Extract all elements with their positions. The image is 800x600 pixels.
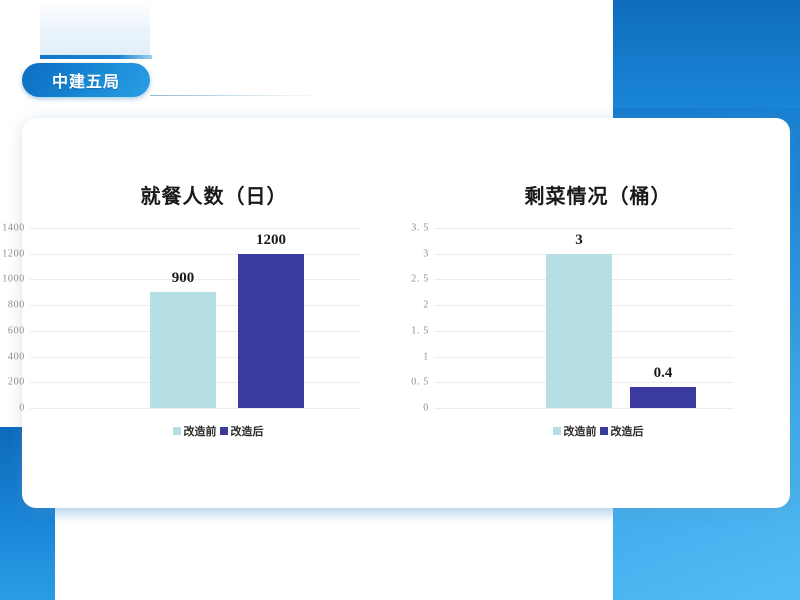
bar-value-label: 900 — [172, 270, 195, 287]
bar-改造后[interactable]: 1200 — [238, 254, 304, 408]
company-badge-label: 中建五局 — [52, 68, 120, 92]
y-axis-tick-label: 600 — [8, 325, 30, 336]
right-blue-band-top-accent — [613, 0, 800, 108]
y-axis-tick-label: 400 — [8, 351, 30, 362]
bottom-card-glow — [55, 508, 613, 522]
y-axis-tick-label: 1000 — [2, 274, 30, 285]
legend-swatch-icon — [553, 427, 561, 435]
company-badge: 中建五局 — [22, 63, 150, 97]
y-axis-tick-label: 3 — [423, 248, 434, 259]
gridline — [30, 408, 360, 409]
bar-value-label: 1200 — [256, 232, 286, 249]
plot-area: 00. 511. 522. 533. 530.4 — [434, 228, 734, 408]
legend-swatch-icon — [220, 427, 228, 435]
chart-legend: 改造前改造后 — [406, 423, 790, 439]
bars-group: 9001200 — [30, 228, 360, 408]
bars-group: 30.4 — [434, 228, 734, 408]
y-axis-tick-label: 0 — [423, 403, 434, 414]
chart-legend: 改造前改造后 — [22, 423, 410, 439]
bar-改造后[interactable]: 0.4 — [630, 387, 696, 408]
y-axis-tick-label: 3. 5 — [411, 223, 434, 234]
legend-label: 改造后 — [611, 423, 644, 439]
y-axis-tick-label: 200 — [8, 377, 30, 388]
y-axis-tick-label: 1 — [423, 351, 434, 362]
chart-title: 剩菜情况（桶） — [406, 180, 790, 209]
legend-item-改造前[interactable]: 改造前 — [173, 423, 217, 439]
legend-swatch-icon — [173, 427, 181, 435]
chart-block-1: 就餐人数（日）02004006008001000120014009001200改… — [22, 118, 406, 508]
top-left-blue-bar-accent — [40, 55, 152, 59]
bar-改造前[interactable]: 3 — [546, 254, 612, 408]
legend-item-改造后[interactable]: 改造后 — [600, 423, 644, 439]
bar-改造前[interactable]: 900 — [150, 292, 216, 408]
y-axis-tick-label: 2. 5 — [411, 274, 434, 285]
chart-title: 就餐人数（日） — [22, 180, 406, 209]
bar-value-label: 3 — [575, 232, 583, 249]
bar-value-label: 0.4 — [654, 365, 673, 382]
y-axis-tick-label: 1400 — [2, 223, 30, 234]
legend-label: 改造前 — [564, 423, 597, 439]
gridline — [434, 408, 734, 409]
charts-row: 就餐人数（日）02004006008001000120014009001200改… — [22, 118, 790, 508]
legend-item-改造后[interactable]: 改造后 — [220, 423, 264, 439]
content-card: 就餐人数（日）02004006008001000120014009001200改… — [22, 118, 790, 508]
y-axis-tick-label: 2 — [423, 300, 434, 311]
legend-item-改造前[interactable]: 改造前 — [553, 423, 597, 439]
top-left-gradient-accent — [40, 0, 150, 58]
badge-underline-rule — [150, 95, 325, 96]
legend-swatch-icon — [600, 427, 608, 435]
y-axis-tick-label: 800 — [8, 300, 30, 311]
y-axis-tick-label: 1200 — [2, 248, 30, 259]
y-axis-tick-label: 0 — [19, 403, 30, 414]
slide-canvas: 中建五局 就餐人数（日）0200400600800100012001400900… — [0, 0, 800, 600]
y-axis-tick-label: 1. 5 — [411, 325, 434, 336]
legend-label: 改造前 — [184, 423, 217, 439]
y-axis-tick-label: 0. 5 — [411, 377, 434, 388]
legend-label: 改造后 — [231, 423, 264, 439]
chart-block-2: 剩菜情况（桶）00. 511. 522. 533. 530.4改造前改造后 — [406, 118, 790, 508]
plot-area: 02004006008001000120014009001200 — [30, 228, 360, 408]
